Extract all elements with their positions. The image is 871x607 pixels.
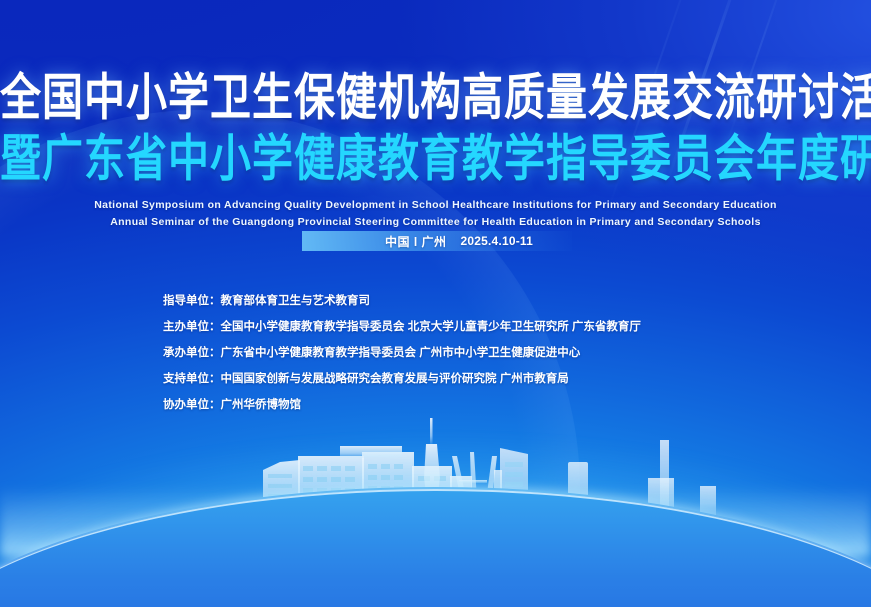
org-label: 协办单位： [163,399,221,411]
org-label: 指导单位： [163,295,221,307]
org-value: 教育部体育卫生与艺术教育司 [221,295,371,307]
page-title-line2: 暨广东省中小学健康教育教学指导委员会年度研讨活动 [0,133,871,185]
list-item: 支持单位：中国国家创新与发展战略研究会教育发展与评价研究院 广州市教育局 [163,366,641,392]
poster-stage: 全国中小学卫生保健机构高质量发展交流研讨活动 暨广东省中小学健康教育教学指导委员… [0,0,871,607]
org-label: 支持单位： [163,373,221,385]
org-value: 广东省中小学健康教育教学指导委员会 广州市中小学卫生健康促进中心 [221,347,581,359]
list-item: 指导单位：教育部体育卫生与艺术教育司 [163,288,641,314]
org-label: 主办单位： [163,321,221,333]
list-item: 协办单位：广州华侨博物馆 [163,392,641,418]
title-block: 全国中小学卫生保健机构高质量发展交流研讨活动 暨广东省中小学健康教育教学指导委员… [0,72,871,230]
org-value: 全国中小学健康教育教学指导委员会 北京大学儿童青少年卫生研究所 广东省教育厅 [221,321,641,333]
org-value: 广州华侨博物馆 [221,399,302,411]
list-item: 主办单位：全国中小学健康教育教学指导委员会 北京大学儿童青少年卫生研究所 广东省… [163,314,641,340]
page-title-line1: 全国中小学卫生保健机构高质量发展交流研讨活动 [0,72,871,124]
org-label: 承办单位： [163,347,221,359]
location-label: 中国 l 广州 [385,233,447,250]
list-item: 承办单位：广东省中小学健康教育教学指导委员会 广州市中小学卫生健康促进中心 [163,340,641,366]
subtitle-english-line2: Annual Seminar of the Guangdong Provinci… [0,214,871,230]
date-location-banner: 中国 l 广州 2025.4.10-11 [302,231,572,251]
subtitle-english-line1: National Symposium on Advancing Quality … [0,197,871,213]
organizations-list: 指导单位：教育部体育卫生与艺术教育司 主办单位：全国中小学健康教育教学指导委员会… [163,288,641,418]
org-value: 中国国家创新与发展战略研究会教育发展与评价研究院 广州市教育局 [221,373,569,385]
date-label: 2025.4.10-11 [461,234,533,248]
